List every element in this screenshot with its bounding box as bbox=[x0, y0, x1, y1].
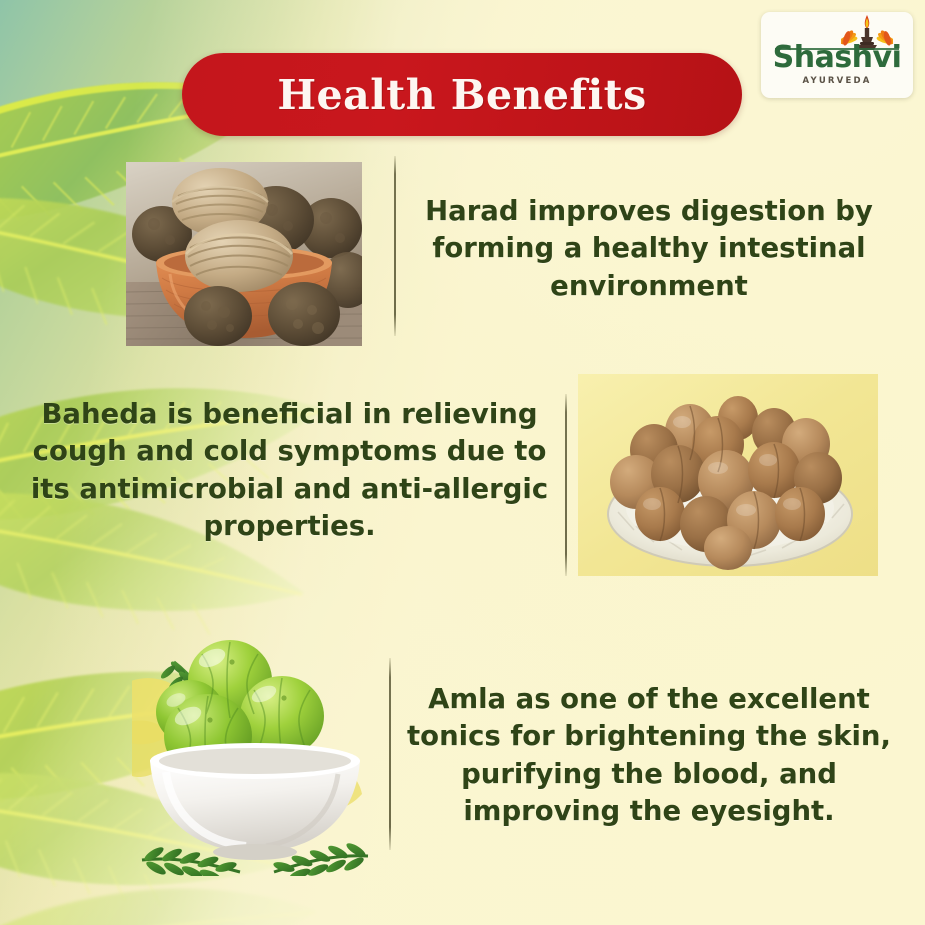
page-title-banner: Health Benefits bbox=[182, 53, 742, 136]
benefit-text-baheda: Baheda is beneficial in relieving cough … bbox=[22, 396, 557, 546]
logo-brand-name: Shashvi bbox=[761, 43, 913, 73]
page-title: Health Benefits bbox=[277, 71, 646, 119]
harad-photo bbox=[126, 162, 362, 346]
benefit-text-amla: Amla as one of the excellent tonics for … bbox=[402, 681, 896, 831]
logo-tagline: AYURVEDA bbox=[761, 76, 913, 86]
section-divider bbox=[394, 156, 396, 336]
section-divider bbox=[389, 658, 391, 850]
brand-logo: Shashvi AYURVEDA bbox=[761, 12, 913, 98]
baheda-photo bbox=[578, 374, 878, 576]
health-benefits-poster: Health Benefits bbox=[0, 0, 925, 925]
benefit-text-harad: Harad improves digestion by forming a he… bbox=[400, 193, 898, 305]
section-divider bbox=[565, 394, 567, 576]
amla-photo bbox=[132, 624, 376, 876]
